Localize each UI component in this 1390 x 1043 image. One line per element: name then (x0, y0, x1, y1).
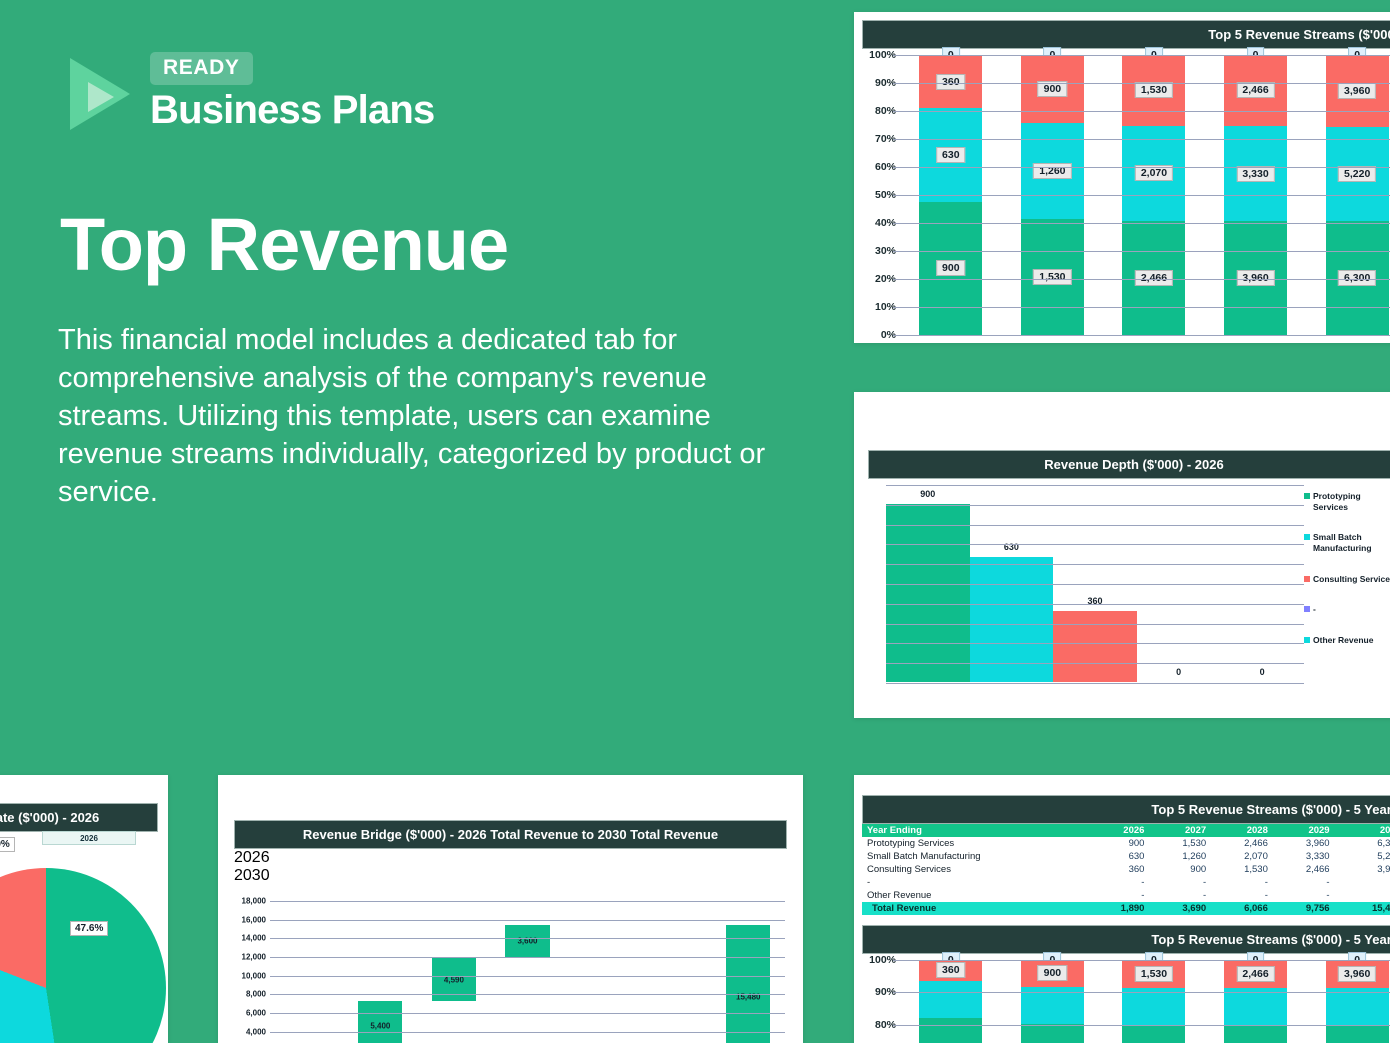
legend-item: Consulting Services (1304, 574, 1390, 585)
y-axis-tick-label: 12,000 (242, 953, 266, 962)
y-axis-tick-label: 100% (869, 49, 896, 61)
table-cell: - (1211, 889, 1273, 902)
bar-column: 360 (1053, 611, 1137, 682)
table-cell: - (1149, 889, 1211, 902)
data-label: 0 (1176, 667, 1181, 677)
axis-tick (893, 1025, 900, 1026)
table-row: Consulting Services3609001,5302,4663,960 (862, 863, 1390, 876)
table-cell: 1,530 (1211, 863, 1273, 876)
bar-segment: 1,530 (1122, 55, 1185, 126)
y-axis-tick-label: 8,000 (246, 990, 266, 999)
year-badge: 2026 (42, 831, 136, 845)
plot-area: 1,8905,4004,5903,60015,480 (270, 901, 785, 1043)
gridline (886, 564, 1304, 565)
y-axis-tick-label: 4,000 (246, 1027, 266, 1036)
page-description: This financial model includes a dedicate… (58, 322, 768, 512)
y-axis-tick-label: 6,000 (246, 1009, 266, 1018)
bar-column: 1,890 (270, 901, 344, 1043)
data-label: 630 (936, 147, 966, 163)
bar-column: 15,480 (711, 901, 785, 1043)
gridline (900, 223, 1390, 224)
bar: 900 (886, 504, 970, 682)
table-cell: 900 (1149, 863, 1211, 876)
bar-segment (1021, 1024, 1084, 1043)
table-row-label: Total Revenue (862, 902, 1088, 915)
pie-chart (0, 868, 166, 1043)
table-total-row: Total Revenue1,8903,6906,0669,75615,480 (862, 902, 1390, 915)
data-label: 900 (1038, 965, 1068, 981)
legend-item: Prototyping Services (1304, 491, 1390, 512)
axis-tick (893, 55, 900, 56)
table-cell: - (1335, 889, 1390, 902)
chart-title: Run-Rate ($'000) - 2026 (0, 803, 158, 832)
legend-label: Consulting Services (1313, 574, 1390, 585)
table-cell: 3,690 (1149, 902, 1211, 915)
bar-column: 0900 (1002, 960, 1104, 1043)
bar-column: 4,590 (417, 901, 491, 1043)
axis-tick (893, 251, 900, 252)
gridline (886, 643, 1304, 644)
bar-column (638, 901, 712, 1043)
table-cell: 15,480 (1335, 902, 1390, 915)
y-axis-tick-label: 14,000 (242, 934, 266, 943)
chart-title: Revenue Bridge ($'000) - 2026 Total Reve… (234, 820, 787, 849)
gridline (886, 604, 1304, 605)
legend-swatch (1304, 493, 1310, 499)
axis-tick (893, 83, 900, 84)
table-column-header: Year Ending (862, 824, 1088, 837)
axis-tick (893, 992, 900, 993)
legend-swatch (1304, 606, 1310, 612)
year-badge-2030: 2030 (234, 867, 342, 885)
gridline (900, 279, 1390, 280)
bar-columns: 0360630090001,53002,46603,960 (900, 960, 1390, 1043)
gridline (270, 957, 785, 958)
table-cell: 900 (1088, 837, 1150, 850)
chart-title-bar: Revenue Depth ($'000) - 2026 (868, 450, 1390, 479)
data-label: 360 (936, 962, 966, 978)
table-cell: 3,960 (1335, 863, 1390, 876)
bar-column: 3,600 (491, 901, 565, 1043)
gridline (270, 994, 785, 995)
table-row-label: Consulting Services (862, 863, 1088, 876)
stacked-bar: 01,530 (1122, 960, 1185, 1043)
table-cell: - (1211, 876, 1273, 889)
bar-segment: 630 (919, 108, 982, 201)
plot-area: 036063090009001,2601,53001,5302,0702,466… (900, 55, 1390, 335)
table-cell: 1,890 (1088, 902, 1150, 915)
table-cell: 3,330 (1273, 850, 1335, 863)
bar-segment: 5,220 (1326, 127, 1389, 221)
year-badge-2026: 2026 (234, 849, 326, 867)
table-column-header: 2028 (1211, 824, 1273, 837)
table-cell: 6,066 (1211, 902, 1273, 915)
pie-label-prototyping: 47.6% (70, 921, 108, 936)
gridline (886, 525, 1304, 526)
plot-area: 90063036000 (886, 485, 1304, 683)
table-cell: 3,960 (1273, 837, 1335, 850)
gridline (900, 111, 1390, 112)
legend-swatch (1304, 637, 1310, 643)
data-label: 5,400 (370, 1022, 390, 1031)
data-label: 1,260 (1033, 163, 1071, 179)
gridline (900, 251, 1390, 252)
gridline (886, 544, 1304, 545)
gridline (900, 992, 1390, 993)
table-cell: 6,300 (1335, 837, 1390, 850)
bar-segment: 900 (1021, 55, 1084, 123)
bar-segment: 2,466 (1224, 960, 1287, 988)
plot-area: 0360630090001,53002,46603,960 (900, 960, 1390, 1043)
table-column-header: 2030 (1335, 824, 1390, 837)
axis-tick (893, 279, 900, 280)
table-title: Top 5 Revenue Streams ($'000) - 5 Years (862, 795, 1390, 824)
y-axis: 100%90%80%70% (860, 960, 900, 1043)
chart-title: Top 5 Revenue Streams ($'000) - 5 Years (862, 925, 1390, 954)
table-cell: 1,260 (1149, 850, 1211, 863)
data-label: 6,300 (1338, 270, 1376, 286)
table-header-row: Year Ending20262027202820292030 (862, 824, 1390, 837)
bar-segment: 3,960 (1326, 55, 1389, 127)
chart-card-revenue-bridge: Revenue Bridge ($'000) - 2026 Total Reve… (218, 775, 803, 1043)
chart-legend: Prototyping ServicesSmall Batch Manufact… (1304, 491, 1390, 665)
legend-swatch (1304, 534, 1310, 540)
gridline (270, 1013, 785, 1014)
data-label: 1,530 (1135, 82, 1173, 98)
bar-segment (1326, 1025, 1389, 1043)
bar-segment (1122, 1025, 1185, 1043)
gridline (270, 920, 785, 921)
bar-segment: 360 (919, 55, 982, 108)
legend-item: Other Revenue (1304, 635, 1390, 646)
gridline (900, 83, 1390, 84)
gridline (886, 624, 1304, 625)
chart-title: Revenue Depth ($'000) - 2026 (877, 457, 1390, 472)
data-label: 1,530 (1033, 269, 1071, 285)
gridline (900, 1025, 1390, 1026)
table-cell: 1,530 (1149, 837, 1211, 850)
data-label: 2,466 (1236, 966, 1274, 982)
gridline (900, 335, 1390, 336)
waterfall-bar: 5,400 (358, 1001, 402, 1043)
y-axis-tick-label: 18,000 (242, 897, 266, 906)
bar-column: 03,960 (1306, 960, 1390, 1043)
gridline (270, 1032, 785, 1033)
gridline (900, 167, 1390, 168)
data-label: 1,530 (1135, 966, 1173, 982)
table-cell: - (1088, 876, 1150, 889)
bar-segment: 1,530 (1021, 219, 1084, 335)
bar-column: 5,400 (344, 901, 418, 1043)
table-cell: - (1273, 889, 1335, 902)
stacked-100-chart-bottom: 100%90%80%70% 0360630090001,53002,46603,… (860, 960, 1390, 1043)
table-cell: 630 (1088, 850, 1150, 863)
table-cell: 2,466 (1211, 837, 1273, 850)
bar-segment: 3,330 (1224, 126, 1287, 222)
table-cell: 2,466 (1273, 863, 1335, 876)
ready-badge: READY (150, 52, 253, 85)
legend-label: - (1313, 604, 1316, 615)
gridline (886, 663, 1304, 664)
bar-segment: 1,260 (1021, 123, 1084, 219)
y-axis-tick-label: 16,000 (242, 915, 266, 924)
gridline (270, 938, 785, 939)
axis-tick (893, 139, 900, 140)
chart-card-run-rate-pie: Run-Rate ($'000) - 2026 2026 0.0% 0.0% 1… (0, 775, 168, 1043)
pie-label-dash: 0.0% (0, 837, 15, 852)
bar-segment (1224, 1025, 1287, 1043)
axis-tick (893, 167, 900, 168)
bar-column: 900 (886, 504, 970, 682)
axis-tick (893, 111, 900, 112)
gridline (886, 683, 1304, 684)
gridline (886, 505, 1304, 506)
bar: 360 (1053, 611, 1137, 682)
stacked-bar: 0360630 (919, 960, 982, 1043)
bar-segment: 630 (919, 981, 982, 1018)
legend-label: Prototyping Services (1313, 491, 1390, 512)
revenue-table: Year Ending20262027202820292030 Prototyp… (862, 824, 1390, 915)
table-cell: - (1273, 876, 1335, 889)
bar-segment: 900 (919, 202, 982, 335)
data-label: 900 (920, 489, 935, 499)
brand-lockup: READY Business Plans (62, 52, 434, 131)
data-label: 0 (1260, 667, 1265, 677)
waterfall-chart: 18,00016,00014,00012,00010,0008,0006,000… (226, 901, 793, 1043)
data-label: 5,220 (1338, 166, 1376, 182)
bar-segment: 900 (1021, 960, 1084, 987)
gridline (900, 55, 1390, 56)
axis-tick (893, 307, 900, 308)
data-label: 360 (936, 74, 966, 90)
bar-column: 01,530 (1103, 960, 1205, 1043)
legend-label: Small Batch Manufacturing (1313, 532, 1390, 553)
stacked-bar: 0900 (1021, 960, 1084, 1043)
stacked-100-chart: 100%90%80%70%60%50%40%30%20%10%0% 036063… (860, 55, 1390, 335)
bar-segment (1326, 988, 1389, 1025)
waterfall-bar: 15,480 (726, 925, 770, 1043)
waterfall-bar: 3,600 (505, 925, 549, 959)
table-column-header: 2026 (1088, 824, 1150, 837)
table-row-label: Small Batch Manufacturing (862, 850, 1088, 863)
gridline (270, 901, 785, 902)
table-column-header: 2027 (1149, 824, 1211, 837)
table-cell: - (1088, 889, 1150, 902)
legend-item: - (1304, 604, 1390, 615)
chart-card-top-5-revenue-streams: Top 5 Revenue Streams ($'000) 100%90%80%… (854, 12, 1390, 343)
chart-title: Top 5 Revenue Streams ($'000) (862, 20, 1390, 49)
gridline (886, 584, 1304, 585)
table-row: Small Batch Manufacturing6301,2602,0703,… (862, 850, 1390, 863)
gridline (886, 485, 1304, 486)
bar-segment: 360 (919, 960, 982, 981)
data-label: 2,466 (1236, 82, 1274, 98)
brand-name: Business Plans (150, 89, 434, 131)
bar-segment: 1,530 (1122, 960, 1185, 988)
axis-tick (893, 335, 900, 336)
table-cell: 9,756 (1273, 902, 1335, 915)
data-label: 900 (936, 260, 966, 276)
data-label: 3,960 (1338, 83, 1376, 99)
bar-column (564, 901, 638, 1043)
data-label: 3,960 (1338, 966, 1376, 982)
revenue-depth-chart: 90063036000 Prototyping ServicesSmall Ba… (868, 485, 1390, 683)
bar-segment: 2,466 (1224, 55, 1287, 126)
y-axis: 18,00016,00014,00012,00010,0008,0006,000… (226, 901, 270, 1043)
table-row-label: Other Revenue (862, 889, 1088, 902)
legend-swatch (1304, 576, 1310, 582)
gridline (900, 307, 1390, 308)
gridline (270, 976, 785, 977)
legend-item: Small Batch Manufacturing (1304, 532, 1390, 553)
table-column-header: 2029 (1273, 824, 1335, 837)
chart-card-top-5-table: Top 5 Revenue Streams ($'000) - 5 Years … (854, 775, 1390, 1043)
bar-columns: 1,8905,4004,5903,60015,480 (270, 901, 785, 1043)
stacked-bar: 03,960 (1326, 960, 1389, 1043)
bar-segment (919, 1018, 982, 1043)
chart-card-revenue-depth: Revenue Depth ($'000) - 2026 90063036000… (854, 392, 1390, 718)
table-row-label: Prototyping Services (862, 837, 1088, 850)
table-row: ------ (862, 876, 1390, 889)
table-body: Prototyping Services9001,5302,4663,9606,… (862, 837, 1390, 915)
table-cell: - (1149, 876, 1211, 889)
bar-column: 02,466 (1205, 960, 1307, 1043)
play-triangle-icon (62, 58, 134, 130)
axis-tick (893, 960, 900, 961)
axis-tick (893, 223, 900, 224)
bar-column: 0360630 (900, 960, 1002, 1043)
table-cell: 2,070 (1211, 850, 1273, 863)
table-cell: 5,220 (1335, 850, 1390, 863)
table-row: Other Revenue----- (862, 889, 1390, 902)
bar-segment (1122, 988, 1185, 1026)
axis-tick (893, 195, 900, 196)
page-title: Top Revenue (60, 208, 508, 282)
stacked-bar: 02,466 (1224, 960, 1287, 1043)
gridline (900, 960, 1390, 961)
y-axis-tick-label: 10,000 (242, 971, 266, 980)
gridline (900, 195, 1390, 196)
bar-segment: 6,300 (1326, 221, 1389, 335)
bar-segment: 3,960 (1326, 960, 1389, 988)
table-cell: 360 (1088, 863, 1150, 876)
legend-label: Other Revenue (1313, 635, 1373, 646)
gridline (900, 139, 1390, 140)
bar-segment (1224, 988, 1287, 1026)
table-cell: - (1335, 876, 1390, 889)
y-axis-tick-label: 100% (869, 954, 896, 966)
table-row: Prototyping Services9001,5302,4663,9606,… (862, 837, 1390, 850)
table-row-label: - (862, 876, 1088, 889)
